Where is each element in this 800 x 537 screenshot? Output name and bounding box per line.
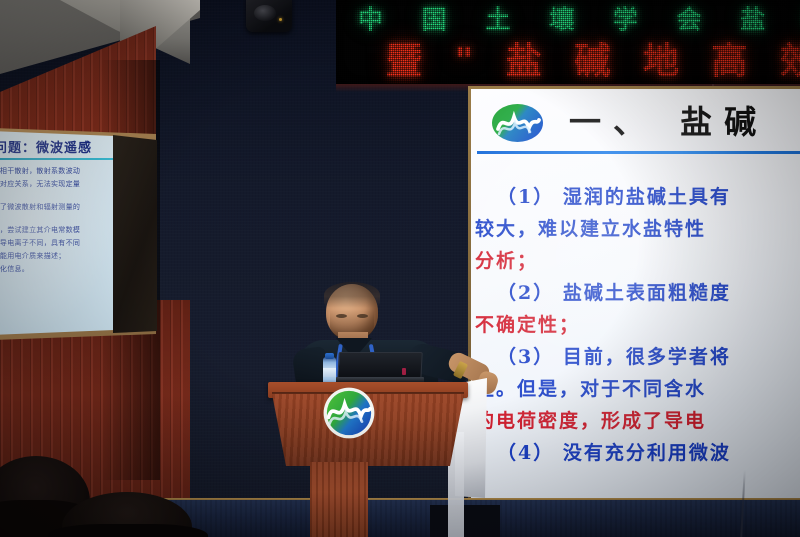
left-slide-spacer (0, 191, 114, 201)
ceiling-speaker (246, 0, 292, 32)
main-slide-line: （4） 没有充分利用微波 (475, 437, 800, 469)
presenter-hair (324, 282, 380, 308)
main-slide-line: 分析； (475, 245, 800, 277)
left-slide-line: 来处理，尝试建立其介电常数模 (0, 224, 114, 237)
presentation-hall-photo: 中 国 土 壤 学 会 盐 碱 土 暨 " 盐 碱 地 高 效 治 问题：微波遥… (0, 0, 800, 537)
water-bottle-cap (325, 353, 334, 359)
left-slide-spacer (0, 214, 114, 224)
left-screen-dark-panel (113, 133, 157, 333)
left-slide-line: 起表面相干散射，散射系数波动 (0, 165, 114, 178)
main-slide-body: （1） 湿润的盐碱土具有 较大，难以建立水盐特性 分析； （2） 盐碱土表面粗糙… (475, 181, 800, 469)
left-slide-body: 起表面相干散射，散射系数波动 的一一对应关系，无法实现定量 ，增大了微波散射和辐… (0, 165, 114, 276)
globe-wave-logo-icon (491, 103, 544, 143)
main-slide-line: 较大，难以建立水盐特性 (475, 213, 800, 245)
led-banner-line-1: 中 国 土 壤 学 会 盐 碱 土 (358, 0, 800, 36)
left-slide-line: ，增大了微波散射和辐射测量的 (0, 201, 114, 214)
main-slide-rule (477, 151, 800, 154)
podium-base-column (310, 462, 368, 537)
stage-floor-shadow (430, 505, 500, 537)
podium-globe-wave-logo-icon (322, 386, 376, 440)
audience-shoulders-center (48, 524, 208, 537)
laptop-indicator (402, 368, 406, 375)
led-banner: 中 国 土 壤 学 会 盐 碱 土 暨 " 盐 碱 地 高 效 治 (336, 0, 800, 84)
main-slide-line: （1） 湿润的盐碱土具有 (475, 181, 800, 213)
left-projection-screen: 问题：微波遥感 起表面相干散射，散射系数波动 的一一对应关系，无法实现定量 ，增… (0, 131, 114, 335)
main-slide-line: 的电荷密度，形成了导电 (475, 405, 800, 437)
main-slide-line: 型。但是，对于不同含水 (475, 373, 800, 405)
main-slide-line: （2） 盐碱土表面粗糙度 (475, 277, 800, 309)
main-slide-title: 一、 盐碱 (569, 97, 768, 143)
presenter-eyes (336, 314, 368, 319)
left-slide-line: 的一一对应关系，无法实现定量 (0, 178, 114, 191)
water-bottle-label (323, 368, 336, 377)
led-banner-line-2: 暨 " 盐 碱 地 高 效 治 (386, 32, 800, 84)
left-slide-line: 制的极化信息。 (0, 263, 114, 276)
main-slide-line: （3） 目前，很多学者将 (475, 341, 800, 373)
left-slide-line: 析出的导电离子不同，具有不同 (0, 237, 114, 250)
speaker-cone-icon (254, 5, 276, 21)
left-slide-rule (0, 158, 114, 160)
speaker-indicator-led (279, 18, 282, 21)
main-slide-line: 不确定性； (475, 309, 800, 341)
left-slide-line: 化，不能用电介质来描述； (0, 250, 114, 263)
left-slide-title: 问题：微波遥感 (0, 137, 92, 156)
main-projection-screen: 一、 盐碱 （1） 湿润的盐碱土具有 较大，难以建立水盐特性 分析； （2） 盐… (471, 89, 800, 505)
